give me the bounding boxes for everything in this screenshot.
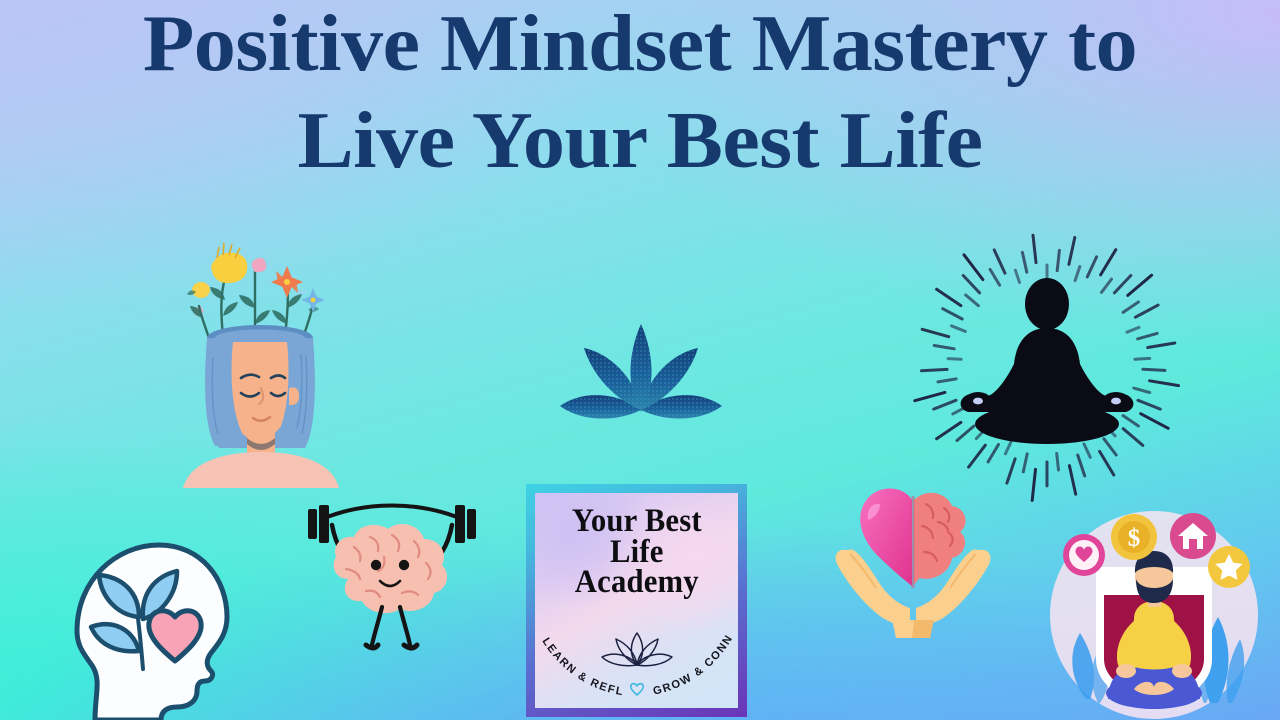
title-line-1: Positive Mindset Mastery to [0,4,1280,83]
heart-icon [629,681,645,696]
illustration-meditating-silhouette [930,242,1165,482]
illustration-woman-flower-head [163,238,358,488]
lotus-outline-icon [600,625,674,669]
badge-heart-icon [1063,534,1105,576]
illustration-lotus-flower [556,310,726,430]
brand-line-3: Academy [572,567,702,598]
illustration-wellbeing-meditation-icons: $ [1042,503,1267,720]
badge-star-icon [1208,546,1250,588]
illustration-mind-head-plant-heart [55,535,240,720]
svg-text:$: $ [1128,525,1141,552]
brand-line-1: Your Best [572,506,702,537]
brand-line-2: Life [572,537,702,568]
badge-home-icon [1170,513,1216,559]
illustration-brain-lifting-weights [296,495,486,665]
logo-card[interactable]: Your Best Life Academy [526,484,747,717]
badge-dollar-icon: $ [1111,514,1157,560]
brand-name: Your Best Life Academy [572,506,702,598]
title-line-2: Live Your Best Life [0,101,1280,180]
logo-card-inner: Your Best Life Academy [535,493,738,708]
illustration-hands-holding-heart-brain [830,478,995,638]
page-title: Positive Mindset Mastery to Live Your Be… [0,4,1280,181]
